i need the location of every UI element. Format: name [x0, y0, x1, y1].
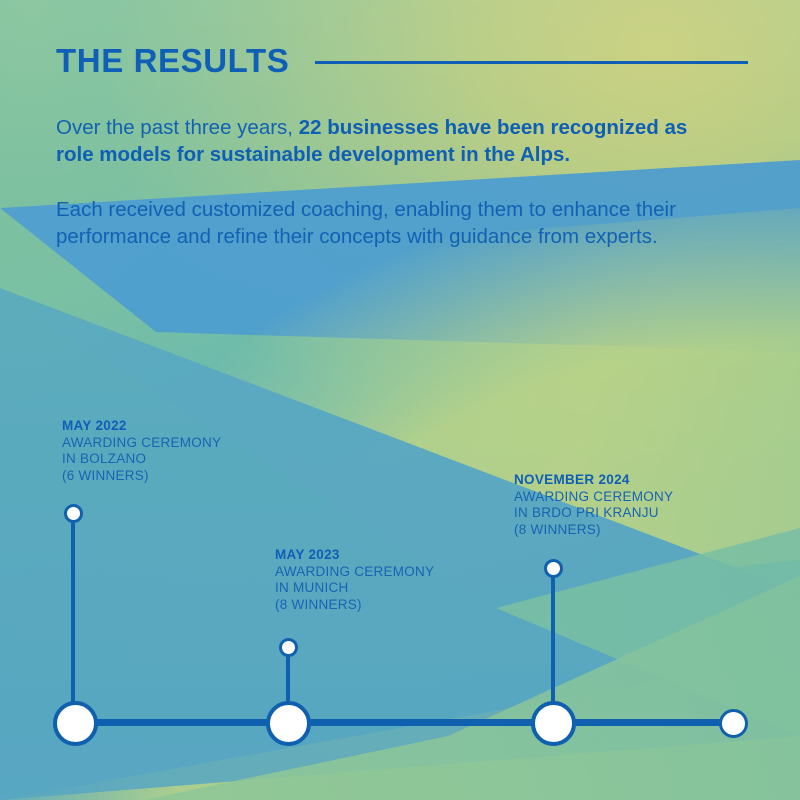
timeline-marker-2[interactable]: [279, 638, 298, 657]
timeline-label-3: NOVEMBER 2024 AWARDING CEREMONY IN BRDO …: [514, 472, 673, 538]
timeline-endpoint-marker[interactable]: [719, 709, 748, 738]
timeline-label-2-line1: AWARDING CEREMONY: [275, 564, 434, 581]
timeline-label-1-line3: (6 WINNERS): [62, 468, 221, 485]
timeline-label-3-date: NOVEMBER 2024: [514, 472, 673, 489]
timeline-label-2: MAY 2023 AWARDING CEREMONY IN MUNICH (8 …: [275, 547, 434, 613]
timeline-label-3-line2: IN BRDO PRI KRANJU: [514, 505, 673, 522]
timeline: MAY 2022 AWARDING CEREMONY IN BOLZANO (6…: [0, 0, 800, 800]
timeline-label-1-line1: AWARDING CEREMONY: [62, 435, 221, 452]
timeline-label-2-date: MAY 2023: [275, 547, 434, 564]
timeline-label-1-date: MAY 2022: [62, 418, 221, 435]
timeline-label-1: MAY 2022 AWARDING CEREMONY IN BOLZANO (6…: [62, 418, 221, 484]
timeline-label-2-line3: (8 WINNERS): [275, 597, 434, 614]
timeline-stem-1: [71, 513, 75, 725]
infographic-canvas: THE RESULTS Over the past three years, 2…: [0, 0, 800, 800]
timeline-node-3[interactable]: [531, 701, 576, 746]
timeline-label-3-line1: AWARDING CEREMONY: [514, 489, 673, 506]
timeline-axis: [75, 719, 720, 726]
timeline-node-1[interactable]: [53, 701, 98, 746]
timeline-label-3-line3: (8 WINNERS): [514, 522, 673, 539]
timeline-marker-3[interactable]: [544, 559, 563, 578]
timeline-label-2-line2: IN MUNICH: [275, 580, 434, 597]
timeline-node-2[interactable]: [266, 701, 311, 746]
timeline-marker-1[interactable]: [64, 504, 83, 523]
content-layer: THE RESULTS Over the past three years, 2…: [0, 0, 800, 800]
timeline-label-1-line2: IN BOLZANO: [62, 451, 221, 468]
